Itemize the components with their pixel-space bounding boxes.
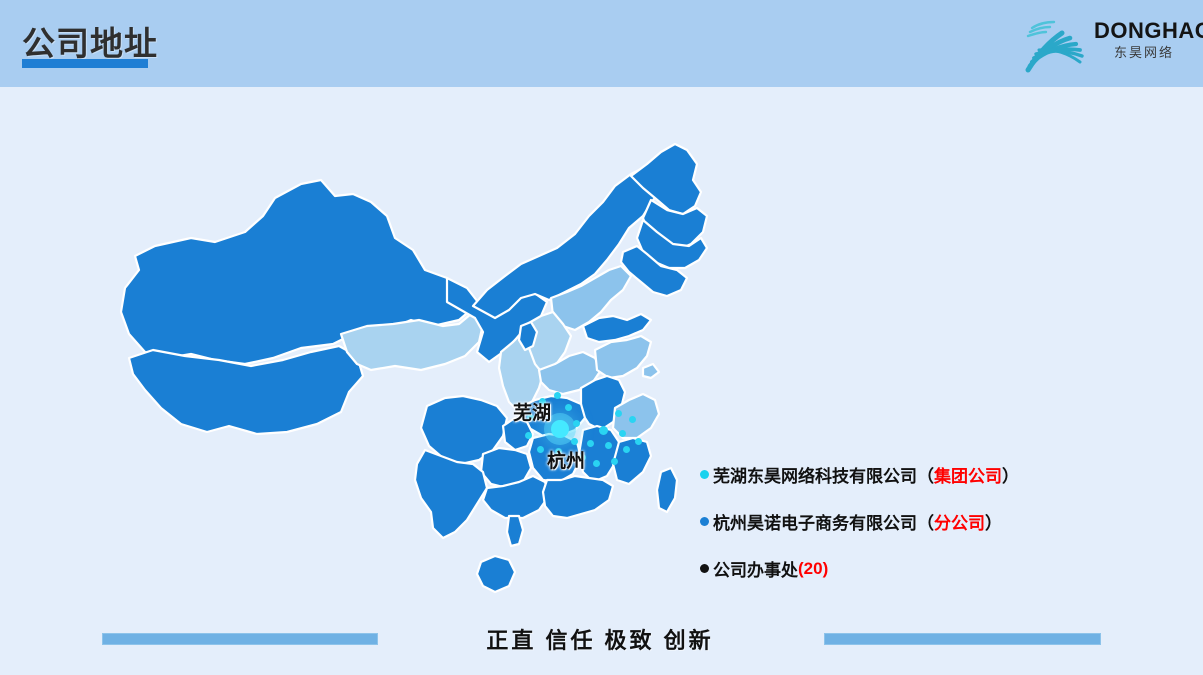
legend-company-name: 杭州昊诺电子商务有限公司 [713,509,917,534]
legend-company-name: 芜湖东昊网络科技有限公司 [713,462,917,487]
legend-paren-open: （ [917,462,934,487]
legend-item-branch-company: 杭州昊诺电子商务有限公司 （ 分公司 ） [700,509,1120,534]
legend-paren-close: ） [985,509,1002,534]
page-title: 公司地址 [22,17,158,65]
logo-text: DONGHAO 东昊网络 [1094,20,1194,59]
legend-office-count: (20) [798,559,828,579]
slide-header: 公司地址 [0,0,1203,87]
logo-text-en: DONGHAO [1094,20,1194,42]
company-logo: DONGHAO 东昊网络 [1016,8,1191,78]
footer-bar-left [102,633,378,645]
logo-text-cn: 东昊网络 [1094,46,1194,59]
legend-paren-open: （ [917,509,934,534]
title-underline [22,59,148,68]
footer-slogan: 正直 信任 极致 创新 [450,623,750,655]
legend-item-offices: 公司办事处 (20) [700,556,1120,581]
china-map: 芜湖 杭州 [95,120,715,610]
fan-wing-icon [1016,8,1096,76]
legend-company-role: 集团公司 [934,462,1002,487]
legend-bullet-black-icon [700,564,709,573]
legend-item-group-company: 芜湖东昊网络科技有限公司 （ 集团公司 ） [700,462,1120,487]
legend-company-name: 公司办事处 [713,556,798,581]
legend-paren-close: ） [1002,462,1019,487]
legend: 芜湖东昊网络科技有限公司 （ 集团公司 ） 杭州昊诺电子商务有限公司 （ 分公司… [700,462,1120,603]
footer-bar-right [824,633,1101,645]
slide-canvas: 公司地址 [0,0,1203,675]
legend-bullet-cyan-icon [700,470,709,479]
legend-company-role: 分公司 [934,509,985,534]
legend-bullet-blue-icon [700,517,709,526]
